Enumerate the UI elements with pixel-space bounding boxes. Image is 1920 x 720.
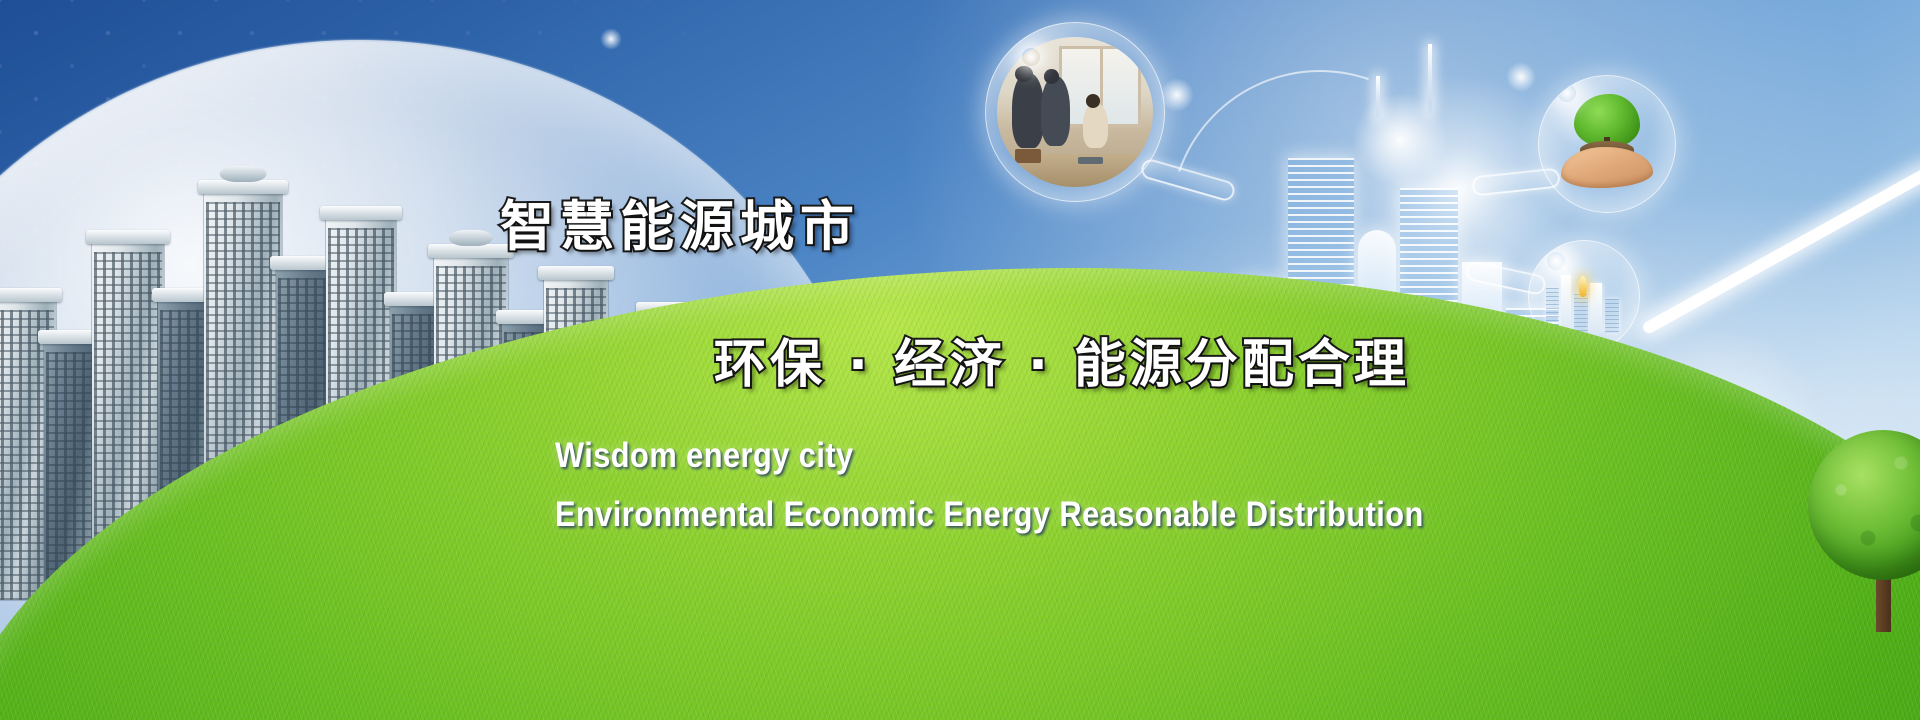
lens-flare-icon — [600, 28, 622, 50]
bubble-sparkle-icon — [1547, 252, 1565, 270]
person-icon — [1041, 76, 1071, 146]
lens-flare-icon — [1506, 62, 1536, 92]
person-head-icon — [1044, 69, 1060, 84]
hand-icon — [1561, 147, 1653, 188]
dotted-sky-pattern-icon — [0, 0, 760, 260]
family-indoors-photo-icon — [997, 37, 1154, 187]
bubble-connector — [1139, 157, 1237, 203]
flame-icon — [1579, 276, 1587, 296]
headline-chinese: 智慧能源城市 — [500, 182, 860, 261]
book-icon — [1078, 157, 1103, 164]
lens-flare-icon — [1352, 92, 1448, 188]
child-icon — [1083, 103, 1108, 148]
energy-city-banner: 智慧能源城市 环保 · 经济 · 能源分配合理 Wisdom energy ci… — [0, 0, 1920, 720]
person-head-icon — [1015, 66, 1032, 82]
child-head-icon — [1086, 94, 1100, 107]
bubble-sparkle-icon — [1022, 48, 1040, 66]
box-icon — [1015, 149, 1040, 162]
house-roof-segment — [1641, 165, 1920, 335]
mini-city-lamp-icon — [1544, 265, 1623, 333]
person-icon — [1012, 73, 1043, 148]
lens-flare-icon — [1160, 78, 1194, 112]
bubble-sparkle-icon — [1558, 84, 1576, 102]
bubble-tree — [1538, 75, 1676, 213]
bubble-family — [985, 22, 1165, 202]
